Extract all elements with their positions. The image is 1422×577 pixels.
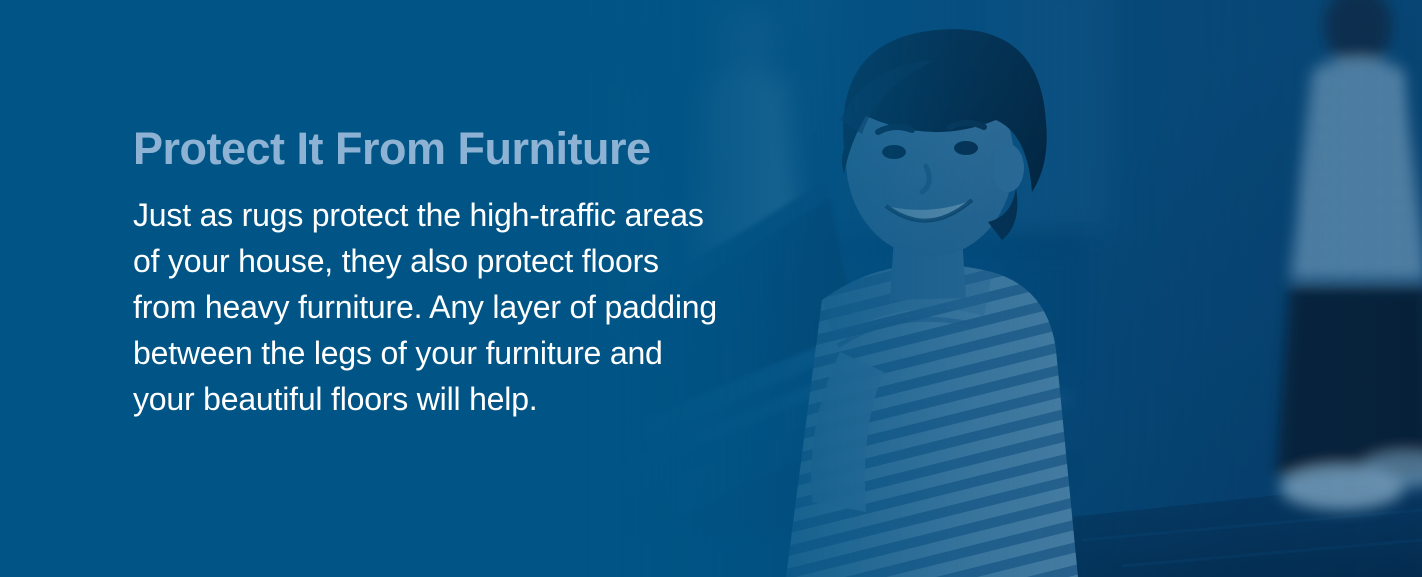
banner-body-copy: Just as rugs protect the high-traffic ar… bbox=[133, 192, 773, 422]
body-line-3: from heavy furniture. Any layer of paddi… bbox=[133, 284, 773, 330]
page-title: Protect It From Furniture bbox=[133, 122, 773, 176]
banner-content: Protect It From Furniture Just as rugs p… bbox=[133, 122, 773, 422]
body-line-2: of your house, they also protect floors bbox=[133, 238, 773, 284]
promo-banner: Protect It From Furniture Just as rugs p… bbox=[0, 0, 1422, 577]
body-line-5: your beautiful floors will help. bbox=[133, 376, 773, 422]
body-line-1: Just as rugs protect the high-traffic ar… bbox=[133, 192, 773, 238]
body-line-4: between the legs of your furniture and bbox=[133, 330, 773, 376]
